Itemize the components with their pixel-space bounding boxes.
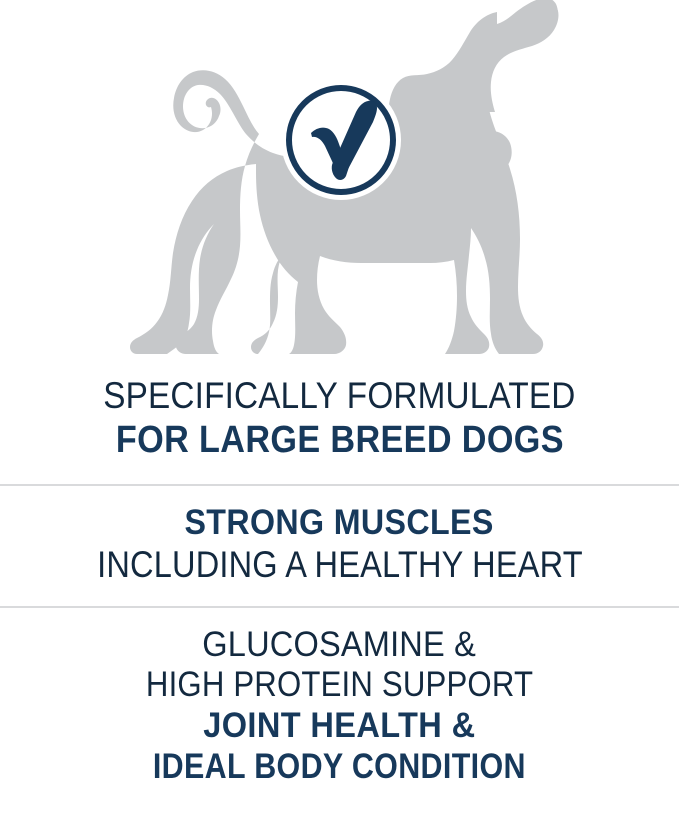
claim-line-text: STRONG MUSCLES: [185, 503, 494, 543]
claim-line: INCLUDING A HEALTHY HEART: [6, 544, 673, 586]
claim-line-text: JOINT HEALTH &: [203, 706, 475, 746]
claim-line-text: HIGH PROTEIN SUPPORT: [146, 665, 533, 705]
claim-line-text: IDEAL BODY CONDITION: [153, 747, 526, 787]
claim-line: HIGH PROTEIN SUPPORT: [6, 665, 673, 705]
hero-illustration: [0, 0, 679, 365]
claim-line: JOINT HEALTH &: [6, 706, 673, 746]
claim-line-text: FOR LARGE BREED DOGS: [115, 419, 563, 462]
claim-block-large-breed: SPECIFICALLY FORMULATED FOR LARGE BREED …: [0, 365, 679, 462]
checkmark-circle-icon: [289, 88, 393, 192]
claim-line: IDEAL BODY CONDITION: [6, 747, 673, 787]
claim-line: STRONG MUSCLES: [6, 503, 673, 543]
claim-line-text: INCLUDING A HEALTHY HEART: [97, 544, 583, 586]
claim-block-joint-health: GLUCOSAMINE & HIGH PROTEIN SUPPORT JOINT…: [0, 608, 679, 788]
claims-list: SPECIFICALLY FORMULATED FOR LARGE BREED …: [0, 365, 679, 827]
claim-line: GLUCOSAMINE &: [6, 625, 673, 665]
claim-line: FOR LARGE BREED DOGS: [6, 419, 673, 462]
claim-line: SPECIFICALLY FORMULATED: [6, 375, 673, 417]
claim-line-text: GLUCOSAMINE &: [203, 625, 477, 665]
claim-block-strong-muscles: STRONG MUSCLES INCLUDING A HEALTHY HEART: [0, 486, 679, 586]
product-benefits-infographic: SPECIFICALLY FORMULATED FOR LARGE BREED …: [0, 0, 679, 827]
claim-line-text: SPECIFICALLY FORMULATED: [103, 375, 575, 417]
